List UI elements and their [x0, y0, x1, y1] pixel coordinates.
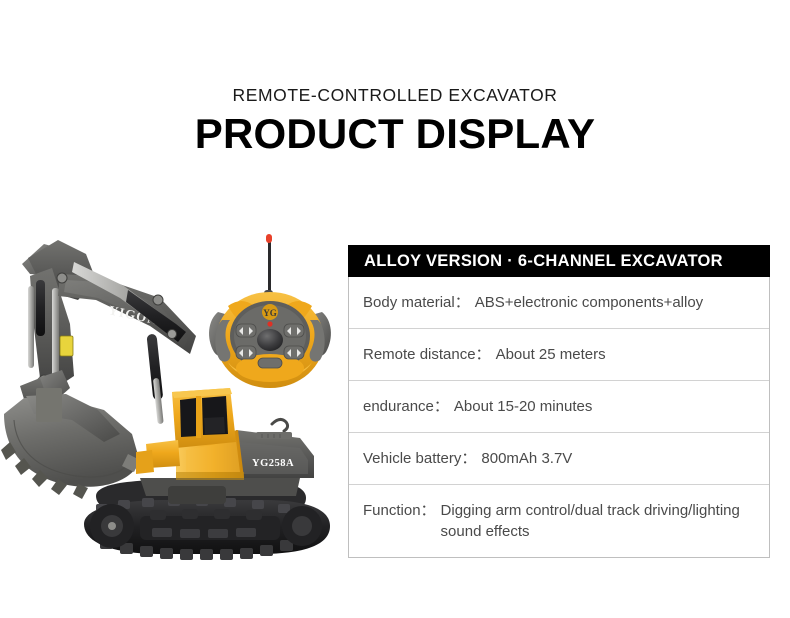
model-decal: YG258A	[252, 458, 294, 469]
remote-button-down-left	[236, 346, 256, 359]
remote-button-center	[258, 358, 282, 368]
spec-row-vehicle-battery: Vehicle battery： 800mAh 3.7V	[349, 433, 769, 485]
product-photo: YIGONG	[0, 228, 340, 572]
spec-label: Remote distance：	[363, 344, 491, 365]
spec-row-function: Function： Digging arm control/dual track…	[349, 485, 769, 557]
spec-row-body-material: Body material： ABS+electronic components…	[349, 277, 769, 329]
spec-row-endurance: endurance： About 15-20 minutes	[349, 381, 769, 433]
svg-text:YG: YG	[263, 308, 277, 318]
spec-label: Vehicle battery：	[363, 448, 476, 469]
spec-table-body: Body material： ABS+electronic components…	[348, 277, 770, 558]
excavator-upper-body: YG258A	[136, 388, 314, 504]
spec-table: ALLOY VERSION · 6-CHANNEL EXCAVATOR Body…	[348, 245, 770, 558]
remote-button-right	[284, 324, 304, 337]
page-title: PRODUCT DISPLAY	[0, 109, 790, 159]
spec-table-header: ALLOY VERSION · 6-CHANNEL EXCAVATOR	[348, 245, 770, 277]
page-header: REMOTE-CONTROLLED EXCAVATOR PRODUCT DISP…	[0, 84, 790, 159]
spec-label: endurance：	[363, 396, 449, 417]
spec-row-remote-distance: Remote distance： About 25 meters	[349, 329, 769, 381]
spec-label: Body material：	[363, 292, 470, 313]
remote-antenna	[264, 234, 273, 302]
cab-window-side	[180, 398, 198, 437]
ring-remote-control: YG	[209, 234, 331, 388]
spec-value: Digging arm control/dual track driving/l…	[436, 500, 755, 542]
spec-value: ABS+electronic components+alloy	[470, 292, 703, 313]
spec-value: About 15-20 minutes	[449, 396, 592, 417]
spec-label: Function：	[363, 500, 436, 521]
remote-button-down-right	[284, 346, 304, 359]
warning-decal	[60, 336, 73, 356]
spec-value: About 25 meters	[491, 344, 606, 365]
excavator-bucket	[1, 370, 140, 499]
remote-button-left	[236, 324, 256, 337]
spec-value: 800mAh 3.7V	[476, 448, 572, 469]
page-subtitle: REMOTE-CONTROLLED EXCAVATOR	[0, 84, 790, 106]
